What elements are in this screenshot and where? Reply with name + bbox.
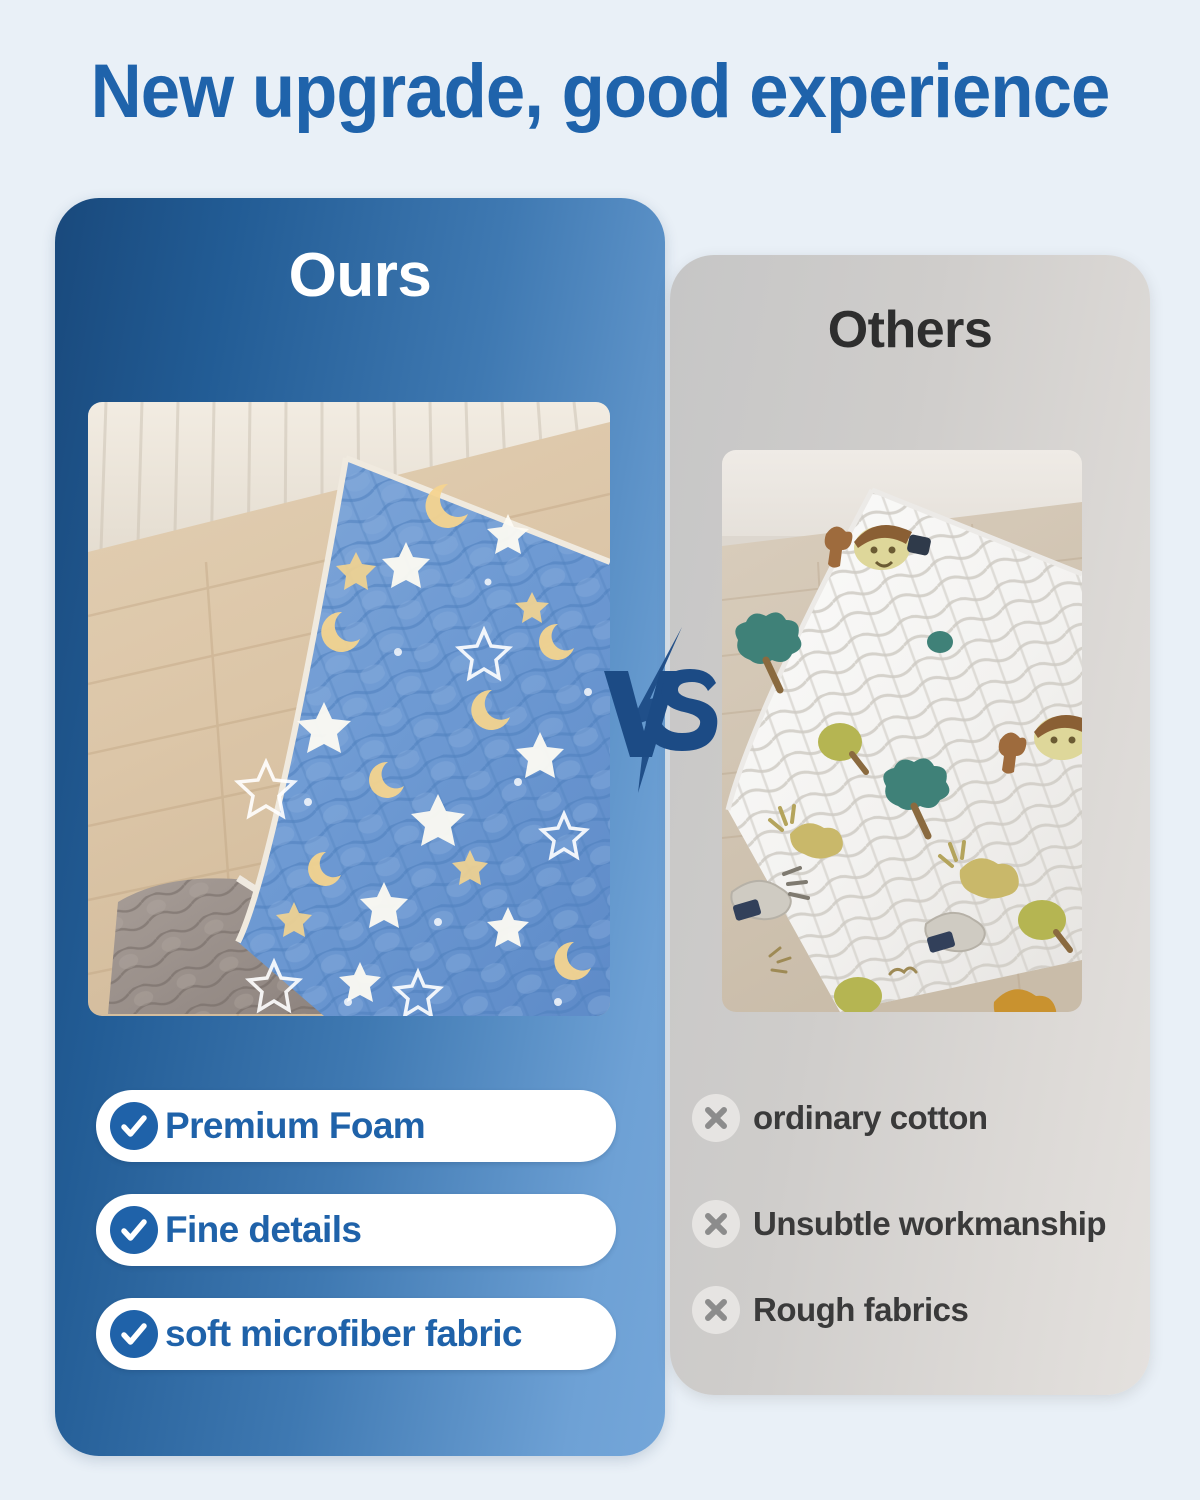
others-product-photo: [722, 450, 1082, 1012]
feature-pill[interactable]: soft microfiber fabric: [96, 1298, 616, 1370]
x-circle-icon: [692, 1286, 740, 1334]
drawback-row: Rough fabrics: [692, 1282, 968, 1338]
x-circle-icon: [692, 1200, 740, 1248]
drawback-label: Unsubtle workmanship: [753, 1205, 1106, 1243]
x-circle-icon: [692, 1094, 740, 1142]
page-title: New upgrade, good experience: [42, 48, 1158, 135]
ours-heading: Ours: [55, 240, 665, 311]
feature-pill[interactable]: Fine details: [96, 1194, 616, 1266]
others-heading: Others: [670, 300, 1150, 360]
ours-product-photo: [88, 402, 610, 1016]
product-photo-icon: [722, 450, 1082, 1012]
check-circle-icon: [110, 1102, 158, 1150]
feature-pill-label: soft microfiber fabric: [165, 1313, 522, 1355]
vs-divider-badge: [598, 625, 724, 795]
feature-pill[interactable]: Premium Foam: [96, 1090, 616, 1162]
drawback-row: ordinary cotton: [692, 1090, 988, 1146]
drawback-label: Rough fabrics: [753, 1291, 968, 1329]
vs-lightning-icon: [598, 625, 724, 795]
feature-pill-label: Fine details: [165, 1209, 361, 1251]
product-photo-icon: [88, 402, 610, 1016]
check-circle-icon: [110, 1206, 158, 1254]
drawback-label: ordinary cotton: [753, 1099, 988, 1137]
check-circle-icon: [110, 1310, 158, 1358]
drawback-row: Unsubtle workmanship: [692, 1196, 1106, 1252]
feature-pill-label: Premium Foam: [165, 1105, 425, 1147]
